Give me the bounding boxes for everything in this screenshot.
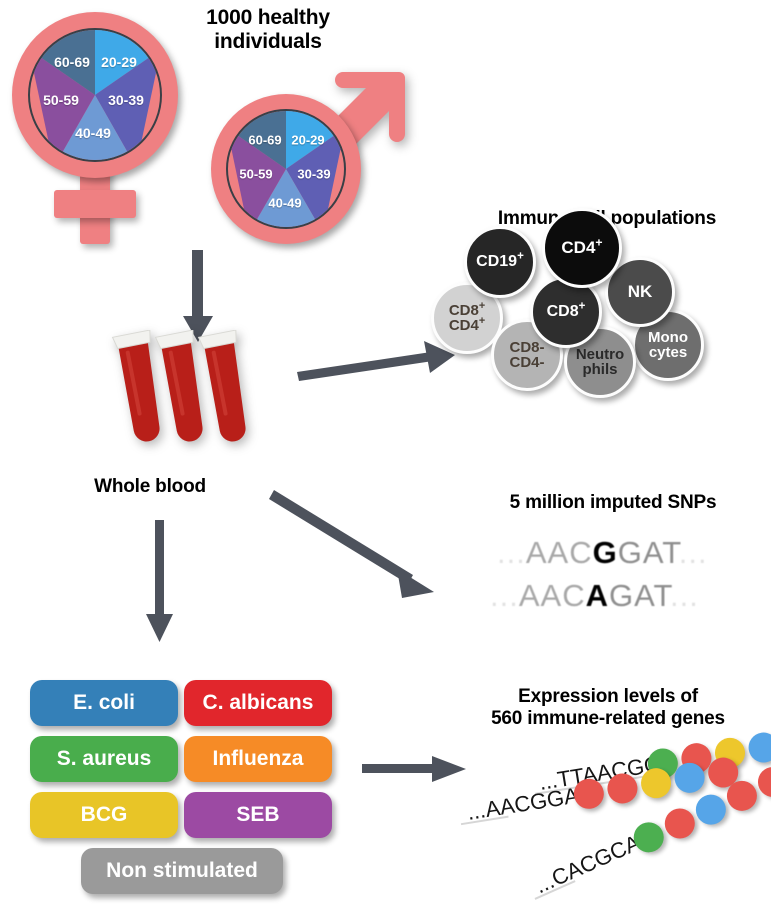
arrow-head xyxy=(432,756,466,782)
expression-strand-1-bead-4 xyxy=(746,730,771,764)
stimulation-s-aureus[interactable]: S. aureus xyxy=(30,736,178,782)
expression-heading-line2: 560 immune-related genes xyxy=(448,708,768,730)
snp-row1-prefix: ... xyxy=(497,535,526,570)
immune-cell-neutrophils-line1: Neutro xyxy=(576,347,624,362)
stimulation-e-coli[interactable]: E. coli xyxy=(30,680,178,726)
stimulation-seb-label: SEB xyxy=(236,803,279,827)
immune-cell-cd19plus: CD19+ xyxy=(464,226,536,298)
snp-row1-variant: G xyxy=(593,535,618,570)
immune-cell-cd8plus-cd4plus-line2: CD4+ xyxy=(449,318,485,333)
snp-row2-pre: AAC xyxy=(519,578,586,613)
stimulation-e-coli-label: E. coli xyxy=(73,691,135,715)
stimulation-non-stimulated[interactable]: Non stimulated xyxy=(81,848,283,894)
snp-row2-suffix: ... xyxy=(670,578,699,613)
stimulation-bcg[interactable]: BCG xyxy=(30,792,178,838)
immune-cell-cd8minus-cd4minus-line1: CD8- xyxy=(509,340,544,355)
stimulation-c-albicans[interactable]: C. albicans xyxy=(184,680,332,726)
stimulation-c-albicans-label: C. albicans xyxy=(203,691,314,715)
stimulation-s-aureus-label: S. aureus xyxy=(57,747,152,771)
immune-cell-cd4plus-label: CD4+ xyxy=(561,239,602,256)
immune-cell-cd8plus-label: CD8+ xyxy=(547,304,586,320)
immune-cell-cd19plus-label: CD19+ xyxy=(476,254,524,270)
snp-sequence-row-1: ...AACGGAT... xyxy=(497,535,747,571)
expression-heading: Expression levels of 560 immune-related … xyxy=(448,686,768,730)
snp-row1-post: GAT xyxy=(618,535,679,570)
stimulation-non-stimulated-label: Non stimulated xyxy=(106,859,258,883)
immune-cell-cd4plus: CD4+ xyxy=(542,208,622,288)
stimulation-seb[interactable]: SEB xyxy=(184,792,332,838)
stimulation-bcg-label: BCG xyxy=(81,803,128,827)
immune-cell-nk-label: NK xyxy=(628,283,653,300)
immune-cell-neutrophils-line2: phils xyxy=(582,362,617,377)
expression-strand-2-bead-4 xyxy=(672,761,706,795)
snp-row2-post: GAT xyxy=(609,578,670,613)
snp-row2-prefix: ... xyxy=(490,578,519,613)
arrow-shaft xyxy=(362,764,438,773)
arrow-stimulations-to-expression xyxy=(362,752,472,792)
immune-cell-cd8minus-cd4minus-line2: CD4- xyxy=(509,355,544,370)
expression-strand-2-bead-3 xyxy=(639,766,673,800)
immune-cell-monocytes-line2: cytes xyxy=(649,345,687,360)
expression-heading-line1: Expression levels of xyxy=(448,686,768,708)
snp-row1-pre: AAC xyxy=(526,535,593,570)
figure-canvas: 1000 healthy individuals 20-29 30-39 40-… xyxy=(0,0,771,922)
snp-row2-variant: A xyxy=(586,578,609,613)
snps-heading: 5 million imputed SNPs xyxy=(468,492,758,514)
stimulation-influenza[interactable]: Influenza xyxy=(184,736,332,782)
immune-cell-monocytes-line1: Mono xyxy=(648,330,688,345)
snp-row1-suffix: ... xyxy=(679,535,708,570)
snp-sequence-row-2: ...AACAGAT... xyxy=(490,578,740,614)
stimulation-influenza-label: Influenza xyxy=(212,747,303,771)
expression-strand-2-bead-2 xyxy=(605,771,639,805)
